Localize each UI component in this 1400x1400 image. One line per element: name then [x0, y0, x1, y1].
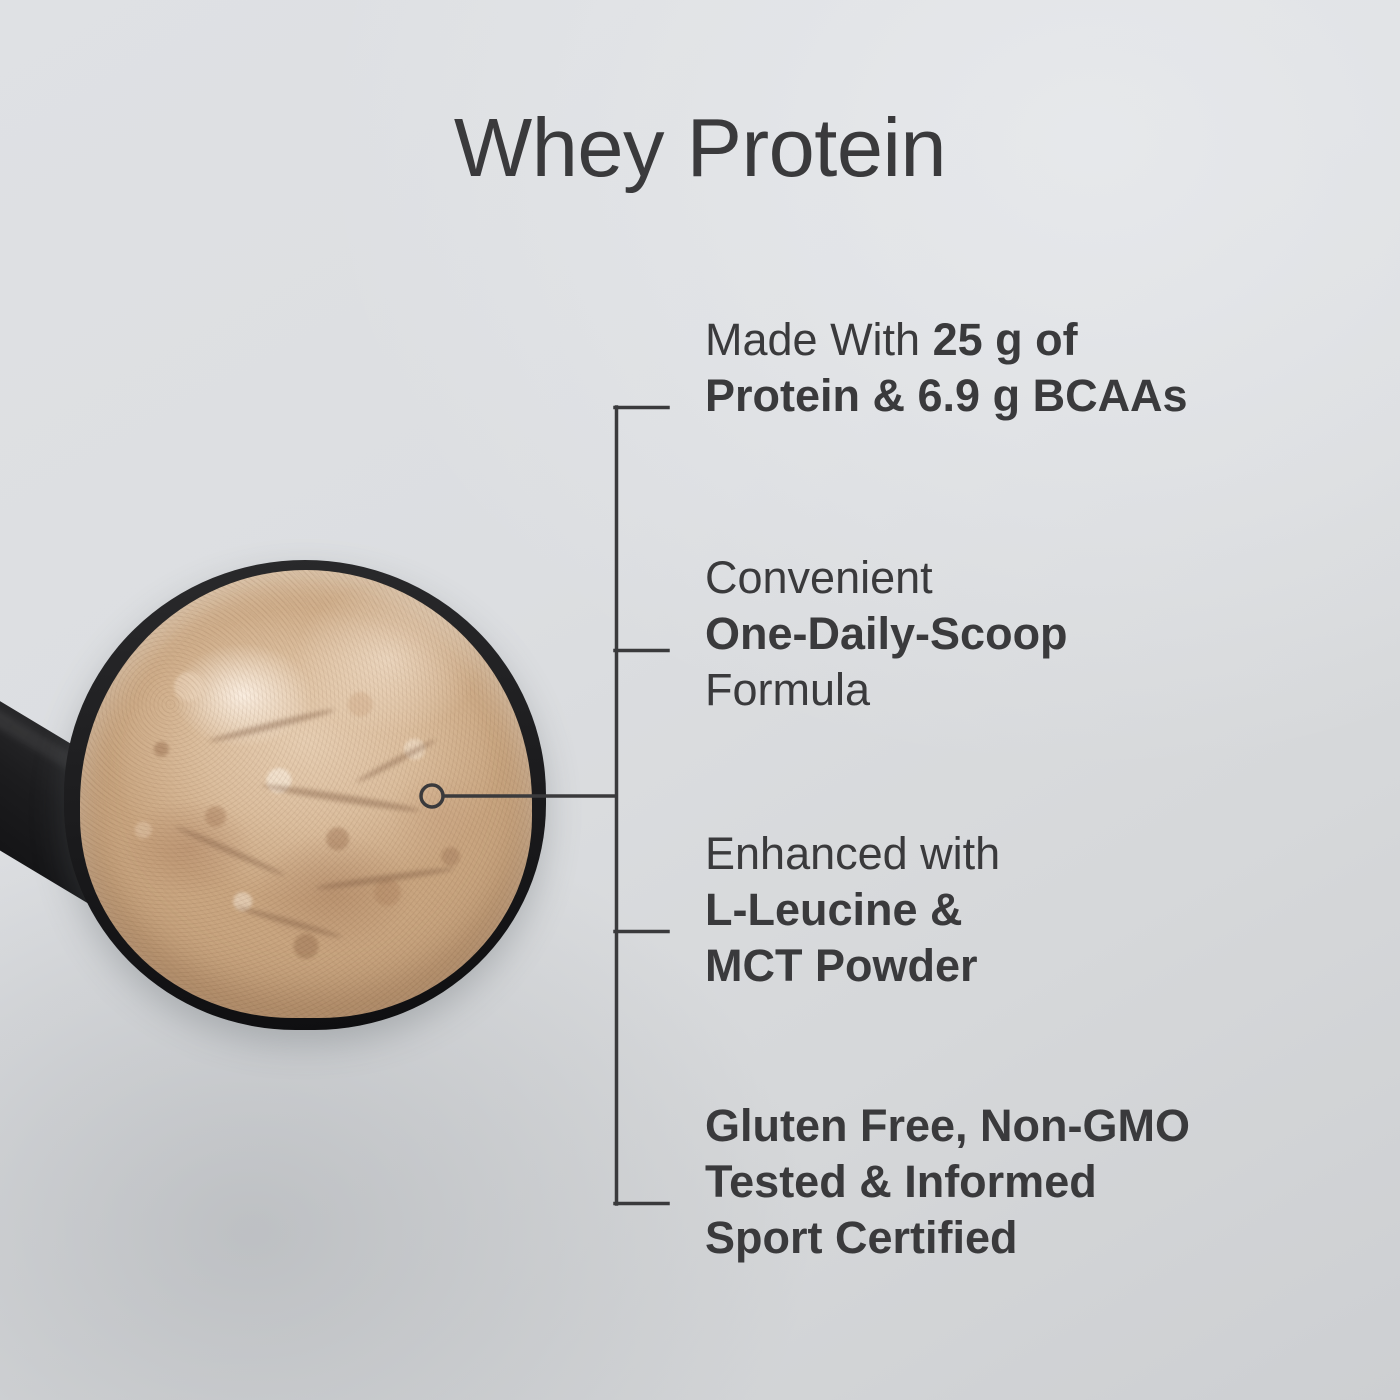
feature-text-bold: Tested & Informed — [705, 1156, 1097, 1207]
feature-text-bold: Gluten Free, Non-GMO — [705, 1100, 1190, 1151]
feature-line: Protein & 6.9 g BCAAs — [705, 368, 1365, 424]
feature-line: Gluten Free, Non-GMO — [705, 1098, 1365, 1154]
feature-line: Made With 25 g of — [705, 312, 1365, 368]
feature-line: MCT Powder — [705, 938, 1365, 994]
feature-text-bold: Sport Certified — [705, 1212, 1018, 1263]
infographic-canvas: Whey Protein — [0, 0, 1400, 1400]
feature-item-leucine-mct: Enhanced with L-Leucine & MCT Powder — [705, 826, 1365, 994]
feature-text-plain: Formula — [705, 664, 870, 715]
feature-text-plain: Enhanced with — [705, 828, 1000, 879]
feature-line: One-Daily-Scoop — [705, 606, 1365, 662]
feature-text-bold: 25 g of — [933, 314, 1078, 365]
feature-text-bold: L-Leucine & — [705, 884, 963, 935]
feature-line: Formula — [705, 662, 1365, 718]
feature-list: Made With 25 g of Protein & 6.9 g BCAAs … — [705, 0, 1365, 1400]
feature-item-protein-bcaa: Made With 25 g of Protein & 6.9 g BCAAs — [705, 312, 1365, 424]
feature-text-bold: One-Daily-Scoop — [705, 608, 1068, 659]
feature-text-bold: Protein & 6.9 g BCAAs — [705, 370, 1188, 421]
feature-line: L-Leucine & — [705, 882, 1365, 938]
circle-marker-icon — [421, 785, 443, 807]
feature-text-plain: Made With — [705, 314, 933, 365]
feature-text-bold: MCT Powder — [705, 940, 978, 991]
feature-item-one-daily-scoop: Convenient One-Daily-Scoop Formula — [705, 550, 1365, 718]
feature-line: Convenient — [705, 550, 1365, 606]
feature-item-certifications: Gluten Free, Non-GMO Tested & Informed S… — [705, 1098, 1365, 1266]
feature-line: Enhanced with — [705, 826, 1365, 882]
feature-text-plain: Convenient — [705, 552, 933, 603]
feature-line: Sport Certified — [705, 1210, 1365, 1266]
feature-line: Tested & Informed — [705, 1154, 1365, 1210]
